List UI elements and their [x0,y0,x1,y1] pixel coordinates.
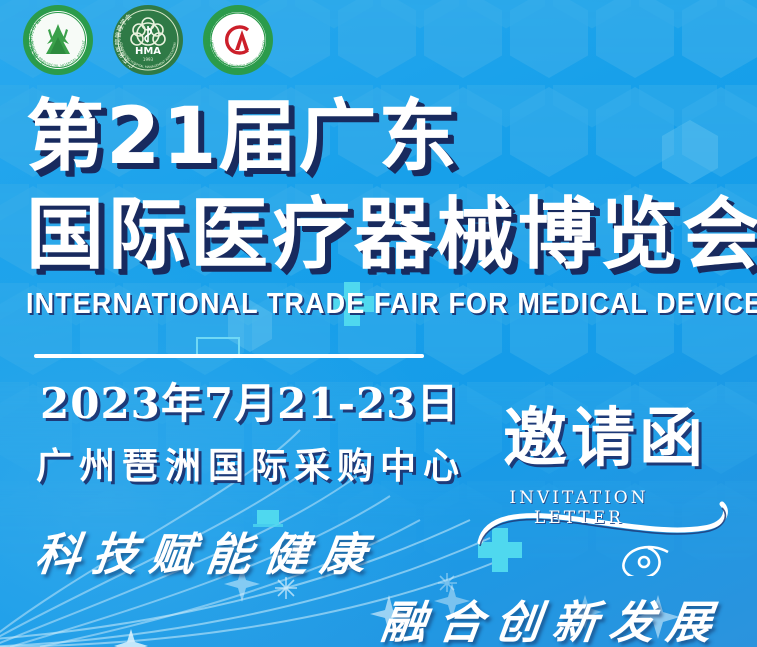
invitation-english-line-2: LETTER [480,508,678,528]
white-divider-rule [34,354,424,358]
slogan-right: 融合创新发展 [378,586,728,647]
event-date: 2023年7月21-23日 [40,370,459,431]
slogan-left: 科技赋能健康 [32,518,382,583]
invitation-poster: 广东省医院协会 GUANGDONG PROVINCIAL HOSPITAL AS… [0,0,757,647]
logo-guangdong-provincial-hospital-association: 广东省医院协会 GUANGDONG PROVINCIAL HOSPITAL AS… [22,4,94,76]
title-line-1: 第21届广东 [26,88,740,186]
association-logos: 广东省医院协会 GUANGDONG PROVINCIAL HOSPITAL AS… [22,4,274,76]
event-venue: 广州琶洲国际采购中心 [36,437,466,489]
title-line-2: 国际医疗器械博览会 [26,186,740,284]
title-block: 第21届广东 国际医疗器械博览会 INTERNATIONAL TRADE FAI… [26,88,740,321]
logo-china-association-of-medical-equipment: 广东省医疗器械行业协会 GUANGDONG MEDICAL EQUIPMENT … [202,4,274,76]
title-english: INTERNATIONAL TRADE FAIR FOR MEDICAL DEV… [26,288,690,321]
invitation-english-line-1: INVITATION [480,488,678,508]
svg-text:1993: 1993 [143,57,154,62]
svg-text:HMA: HMA [135,46,161,57]
invitation-letter-block: 邀请函 INVITATION LETTER [480,404,730,528]
logo-guangdong-hospital-management-association: HMA 1993 广东省医院管理学会 GUANGDONG HOSPITAL MA… [112,4,184,76]
